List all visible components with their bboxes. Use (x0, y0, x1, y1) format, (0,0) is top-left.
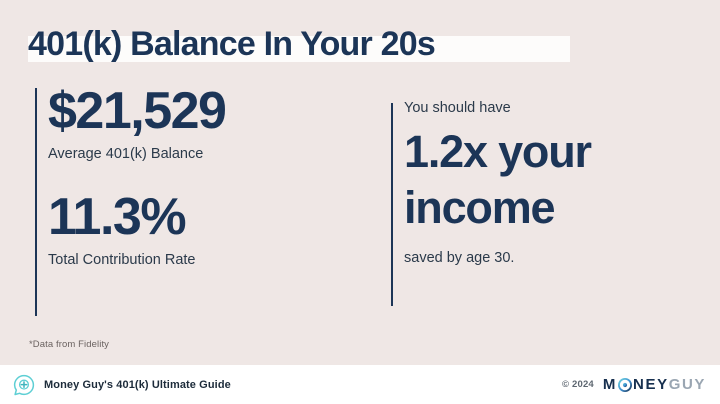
stat-block-average-balance: $21,529 Average 401(k) Balance (48, 82, 368, 164)
page-title: 401(k) Balance In Your 20s (28, 24, 435, 64)
footer-bar: Money Guy's 401(k) Ultimate Guide © 2024… (0, 365, 720, 404)
recommendation-headline-line-1: 1.2x your (404, 124, 704, 180)
wordmark-part-two: NEY (633, 377, 669, 393)
page-title-wrap: 401(k) Balance In Your 20s (28, 18, 435, 64)
infographic-canvas: 401(k) Balance In Your 20s $21,529 Avera… (0, 0, 720, 404)
recommendation-subnote: saved by age 30. (404, 248, 704, 268)
stat-value-average-balance: $21,529 (48, 82, 368, 140)
copyright-text: © 2024 (562, 379, 594, 390)
stat-block-contribution-rate: 11.3% Total Contribution Rate (48, 188, 368, 270)
stat-label-average-balance: Average 401(k) Balance (48, 144, 368, 164)
stat-value-contribution-rate: 11.3% (48, 188, 368, 246)
money-guy-plus-icon (13, 374, 35, 396)
recommendation-headline-line-2: income (404, 180, 704, 236)
footer-guide-title: Money Guy's 401(k) Ultimate Guide (44, 379, 231, 391)
moneyguy-wordmark: M NEY GUY (603, 377, 706, 393)
source-note: *Data from Fidelity (29, 339, 109, 350)
recommendation-headline: 1.2x your income (404, 124, 704, 236)
stat-label-contribution-rate: Total Contribution Rate (48, 250, 368, 270)
recommendation-lede: You should have (404, 98, 704, 118)
moneyguy-logo-icon (618, 378, 632, 392)
wordmark-part-three: GUY (669, 377, 706, 393)
wordmark-part-one: M (603, 377, 617, 393)
left-stats-column: $21,529 Average 401(k) Balance 11.3% Tot… (48, 82, 368, 270)
footer-guide-link[interactable]: Money Guy's 401(k) Ultimate Guide (13, 374, 231, 396)
right-column-divider (391, 103, 393, 306)
left-column-divider (35, 88, 37, 316)
footer-brand: © 2024 M (562, 377, 706, 393)
right-message-column: You should have 1.2x your income saved b… (404, 98, 704, 268)
